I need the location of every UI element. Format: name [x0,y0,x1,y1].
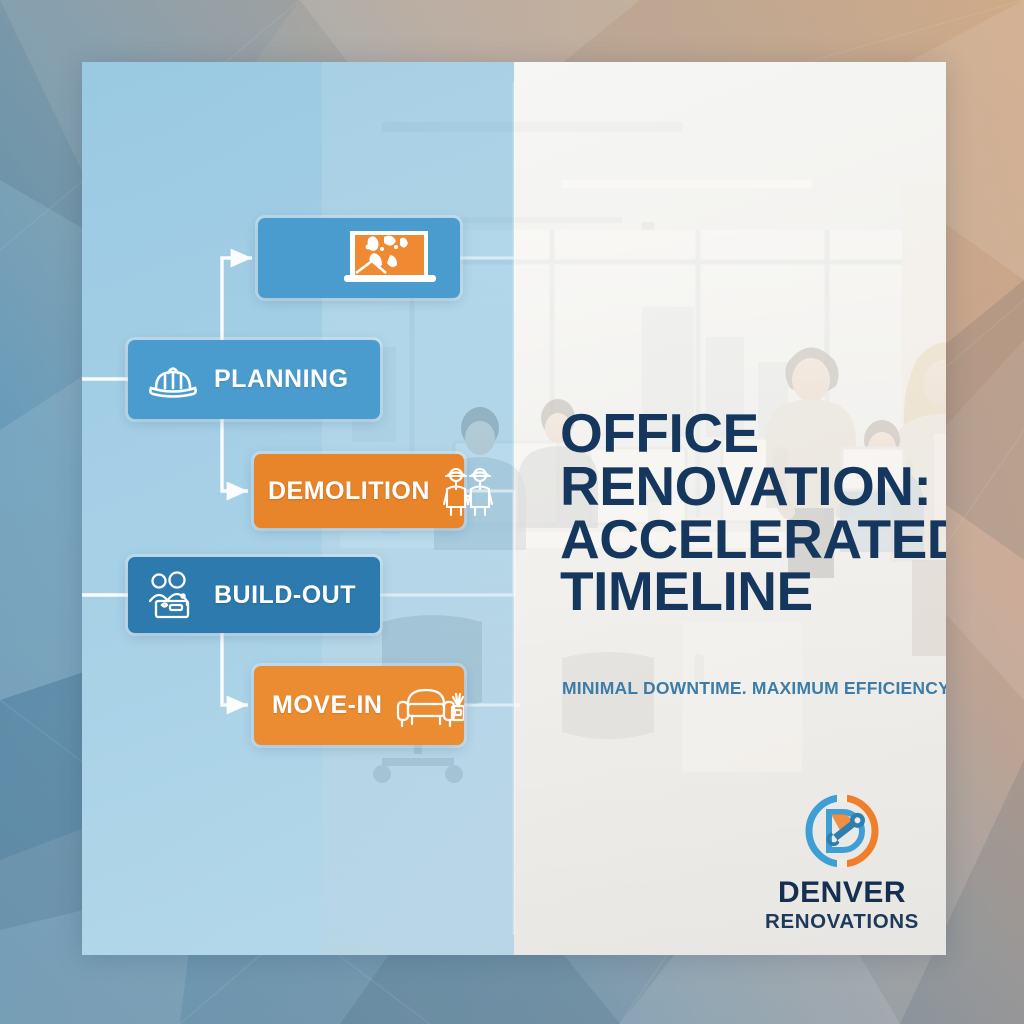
wrench-in-circle-logo-icon [803,792,881,870]
two-workers-icon [438,464,498,518]
flow-node-movein-label: MOVE-IN [272,693,382,718]
brand-tagline: RENOVATIONS [765,912,919,933]
flow-node-buildout-label: BUILD-OUT [214,583,356,608]
hard-hat-icon [146,358,200,402]
headline-line-2: RENOVATION: [560,460,930,513]
brand-logo: DENVER RENOVATIONS [762,792,922,933]
laptop-blueprint-icon [338,227,442,289]
headline-line-1: OFFICE [560,407,930,460]
flow-node-demolition-label: DEMOLITION [268,479,430,504]
flow-node-movein[interactable]: MOVE-IN [254,666,464,745]
sofa-furniture-icon [392,682,464,730]
headline-line-4: TIMELINE [560,565,930,618]
subtitle: MINIMAL DOWNTIME. MAXIMUM EFFICIENCY [562,678,946,699]
flow-node-blueprint[interactable] [258,218,460,298]
brand-name: DENVER [778,878,906,908]
flow-node-buildout[interactable]: BUILD-OUT [128,557,380,633]
headline-line-3: ACCELERATED [560,513,930,566]
poster-card: PLANNING DEMOLITION [82,62,946,955]
flow-node-planning[interactable]: PLANNING [128,340,380,419]
flow-node-demolition[interactable]: DEMOLITION [254,454,464,528]
page-title: OFFICE RENOVATION: ACCELERATED TIMELINE [560,407,930,618]
workers-desk-icon [144,571,200,619]
flow-node-planning-label: PLANNING [214,367,349,392]
